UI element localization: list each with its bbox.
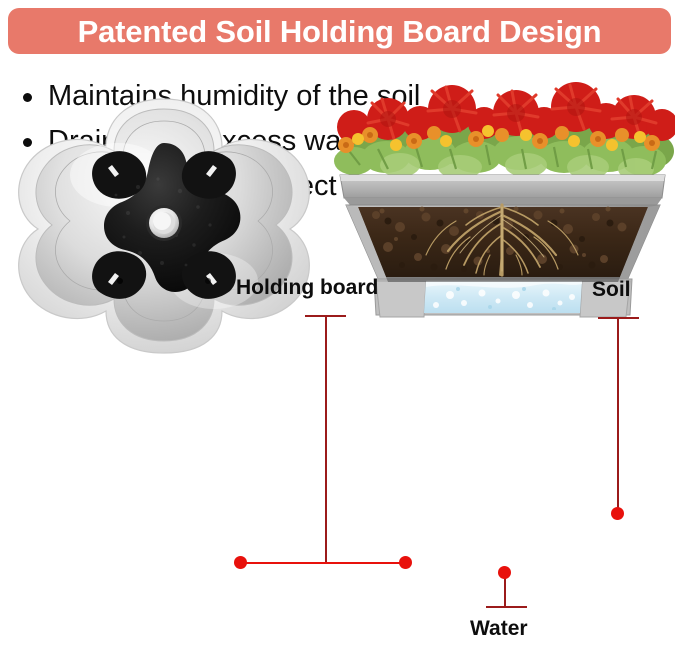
callout-dot-holding-board-right [399, 556, 412, 569]
infographic-root: Patented Soil Holding Board Design Maint… [0, 0, 679, 647]
leader-line-holding-board [325, 315, 327, 563]
plant-foliage [334, 82, 675, 180]
planter-cross-section-photo [330, 65, 675, 385]
leader-line-holding-board-horizontal [240, 562, 408, 564]
callout-dot-water [498, 566, 511, 579]
planter-rim [340, 175, 665, 205]
header-banner: Patented Soil Holding Board Design [8, 8, 671, 54]
callout-dot-soil [611, 507, 624, 520]
page-title: Patented Soil Holding Board Design [78, 16, 602, 47]
leader-line-soil [617, 317, 619, 514]
pot-body [346, 205, 660, 283]
planter-illustration [330, 65, 675, 385]
callout-label-water: Water [470, 618, 528, 639]
clover-pot-illustration [8, 95, 320, 355]
callout-label-holding-board: Holding board [236, 277, 378, 298]
callout-label-soil: Soil [592, 279, 631, 300]
callout-dot-holding-board-left [234, 556, 247, 569]
leader-tick-water [486, 606, 527, 608]
soil-holding-board-photo [8, 95, 320, 355]
